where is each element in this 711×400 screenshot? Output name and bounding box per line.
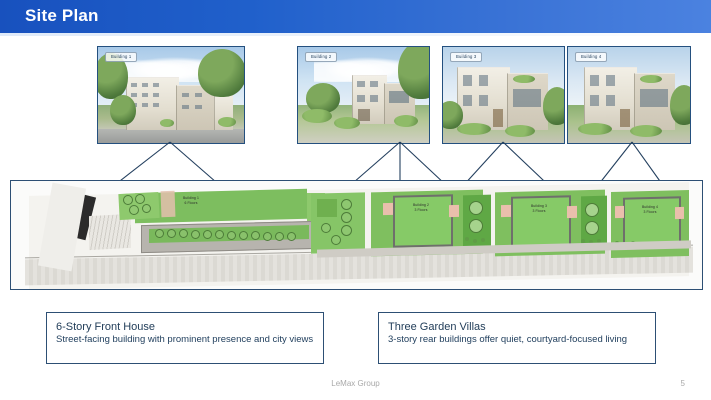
thumb-window xyxy=(131,93,137,97)
thumb-road xyxy=(98,129,244,143)
plan-terrace-3b xyxy=(567,206,577,218)
thumb-shrub-icon xyxy=(160,119,174,127)
plan-tree-symbol xyxy=(227,231,236,240)
thumb-window xyxy=(153,83,159,87)
thumb-window xyxy=(463,75,472,86)
thumb-shrub-icon xyxy=(640,75,662,83)
thumbnail-building-1[interactable]: Building 1 xyxy=(97,46,245,144)
plan-label-building-4: Building 4 3 Floors xyxy=(623,205,677,214)
plan-tree-symbol xyxy=(191,230,200,239)
thumb-window xyxy=(370,81,378,87)
thumb-window xyxy=(620,109,630,127)
thumb-window xyxy=(195,93,202,97)
plan-tree-symbol xyxy=(585,203,599,217)
thumb-window xyxy=(640,89,668,107)
caption-title: 6-Story Front House xyxy=(56,320,314,334)
plan-tree-symbol xyxy=(203,230,212,239)
page-title: Site Plan xyxy=(25,6,99,26)
thumb-shrub-icon xyxy=(513,75,535,83)
thumb-tree-icon xyxy=(543,87,565,125)
thumbnail-building-2[interactable]: Building 2 xyxy=(297,46,430,144)
thumbnail-label: Building 1 xyxy=(105,52,137,62)
thumb-window xyxy=(153,93,159,97)
thumb-window xyxy=(142,103,148,107)
plan-shrub-dot xyxy=(465,237,469,241)
thumb-shrub-icon xyxy=(457,123,491,135)
caption-title: Three Garden Villas xyxy=(388,320,646,334)
header-underline xyxy=(0,33,711,36)
thumb-window xyxy=(590,75,599,86)
thumbnail-building-3[interactable]: Building 3 xyxy=(442,46,565,144)
plan-shrub-dot xyxy=(473,239,477,243)
plan-garden-bed xyxy=(317,199,337,217)
thumb-tree-icon xyxy=(198,49,245,97)
thumb-window xyxy=(463,95,472,106)
thumb-window xyxy=(358,109,370,121)
thumb-shrub-icon xyxy=(218,117,236,127)
thumb-window xyxy=(370,95,378,102)
thumb-window xyxy=(493,109,503,127)
plan-tree-symbol xyxy=(331,235,341,245)
plan-tree-symbol xyxy=(341,225,352,236)
footer-company-name: LeMax Group xyxy=(0,379,711,388)
plan-tree-symbol xyxy=(469,219,483,233)
plan-tree-symbol xyxy=(263,232,272,241)
thumb-window xyxy=(357,81,365,87)
site-plan-map[interactable]: Building 1 6 Floors Building 2 3 Floors … xyxy=(10,180,703,290)
plan-tree-symbol xyxy=(275,232,284,241)
plan-terrace-3a xyxy=(501,205,511,217)
plan-tree-symbol xyxy=(287,232,296,241)
thumb-shrub-icon xyxy=(630,125,662,137)
thumb-shrub-icon xyxy=(302,109,332,123)
caption-body: 3-story rear buildings offer quiet, cour… xyxy=(388,334,646,347)
caption-body: Street-facing building with prominent pr… xyxy=(56,334,314,347)
plan-shrub-dot xyxy=(481,238,485,242)
plan-tree-symbol xyxy=(129,205,139,215)
plan-label-building-3: Building 3 3 Floors xyxy=(511,204,567,213)
plan-tree-symbol xyxy=(239,231,248,240)
thumb-window xyxy=(479,95,488,106)
thumb-window xyxy=(142,93,148,97)
plan-terrace-2a xyxy=(383,203,393,215)
thumb-window xyxy=(195,105,202,109)
thumb-window xyxy=(479,75,488,86)
thumb-window xyxy=(153,103,159,107)
plan-tree-symbol xyxy=(321,223,331,233)
thumb-tree-icon xyxy=(110,95,136,125)
thumbnail-label: Building 4 xyxy=(575,52,607,62)
thumb-shrub-icon xyxy=(578,123,612,135)
thumb-shrub-icon xyxy=(394,115,418,127)
plan-tree-symbol xyxy=(155,229,164,238)
thumb-window xyxy=(357,95,365,102)
plan-label-building-2: Building 2 3 Floors xyxy=(393,203,449,212)
plan-tree-symbol xyxy=(341,199,352,210)
plan-tree-symbol xyxy=(135,194,145,204)
thumb-window xyxy=(513,89,541,107)
plan-tree-symbol xyxy=(215,230,224,239)
plan-tree-symbol xyxy=(251,231,260,240)
thumb-tree-icon xyxy=(670,85,691,125)
thumb-shrub-icon xyxy=(505,125,535,137)
thumbnail-label: Building 3 xyxy=(450,52,482,62)
plan-terrace-2b xyxy=(449,205,459,217)
plan-tree-symbol xyxy=(123,195,133,205)
footer-page-number: 5 xyxy=(681,379,685,388)
plan-tree-symbol xyxy=(179,229,188,238)
caption-box-front-house[interactable]: 6-Story Front House Street-facing buildi… xyxy=(46,312,324,364)
thumb-shrub-icon xyxy=(334,117,360,129)
plan-tree-symbol xyxy=(585,221,599,235)
thumb-window xyxy=(590,95,599,106)
thumb-window xyxy=(606,75,615,86)
plan-tree-symbol xyxy=(469,201,483,215)
thumbnail-label: Building 2 xyxy=(305,52,337,62)
thumb-window xyxy=(182,93,189,97)
plan-tree-symbol xyxy=(341,212,352,223)
thumb-window xyxy=(182,105,189,109)
thumb-window xyxy=(131,83,137,87)
slide-header-bar: Site Plan xyxy=(0,0,711,33)
thumb-window xyxy=(606,95,615,106)
plan-tree-symbol xyxy=(142,204,151,213)
thumbnail-building-4[interactable]: Building 4 xyxy=(567,46,691,144)
thumb-window xyxy=(142,83,148,87)
plan-label-building-1: Building 1 6 Floors xyxy=(161,196,221,205)
caption-box-garden-villas[interactable]: Three Garden Villas 3-story rear buildin… xyxy=(378,312,656,364)
plan-tree-symbol xyxy=(167,229,176,238)
